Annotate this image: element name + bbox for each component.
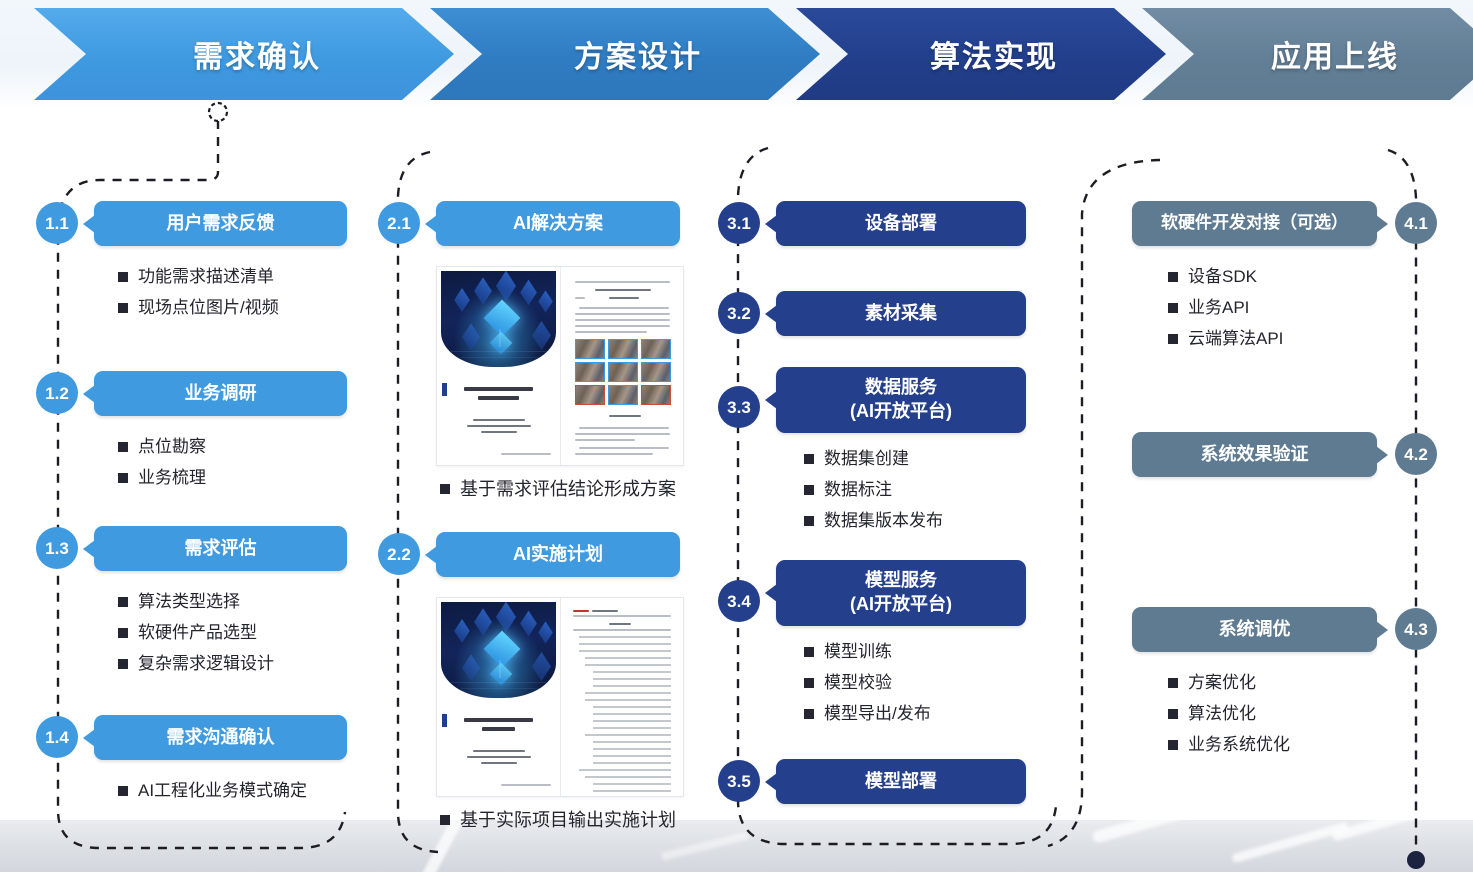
bullet-square-icon <box>118 473 128 483</box>
stage-chevron-1[interactable]: 需求确认 <box>34 8 454 100</box>
node-badge-2-1[interactable]: 2.1 <box>378 202 420 244</box>
bullet-square-icon <box>440 484 450 494</box>
bullet-item: 点位勘察 <box>118 436 206 458</box>
bullet-text: 设备SDK <box>1188 266 1257 288</box>
node-title-text: 系统效果验证 <box>1201 443 1309 467</box>
bullet-item: 数据集创建 <box>804 448 943 470</box>
bullet-square-icon <box>1168 678 1178 688</box>
bullet-square-icon <box>1168 303 1178 313</box>
bullet-item: AI工程化业务模式确定 <box>118 780 307 802</box>
node-badge-4-3[interactable]: 4.3 <box>1395 608 1437 650</box>
stage-label-3: 算法实现 <box>904 32 1058 76</box>
bullet-item: 算法优化 <box>1168 703 1290 725</box>
node-title-text: 模型部署 <box>865 770 937 794</box>
bullet-text: 算法优化 <box>1188 703 1256 725</box>
bullet-item: 设备SDK <box>1168 266 1283 288</box>
node-title-1-1[interactable]: 用户需求反馈 <box>94 201 347 246</box>
node-number: 1.4 <box>45 729 69 746</box>
node-badge-3-1[interactable]: 3.1 <box>718 202 760 244</box>
node-badge-2-2[interactable]: 2.2 <box>378 533 420 575</box>
node-title-2-2[interactable]: AI实施计划 <box>436 532 680 577</box>
bullet-text: 功能需求描述清单 <box>138 266 274 288</box>
node-bullets-1-2: 点位勘察 业务梳理 <box>118 436 206 498</box>
bullet-text: 点位勘察 <box>138 436 206 458</box>
node-title-text: 模型服务 (AI开放平台) <box>850 569 952 617</box>
bullet-square-icon <box>804 709 814 719</box>
doc-cover-title <box>449 718 547 736</box>
doc-content-page <box>561 267 684 465</box>
bullet-text: AI工程化业务模式确定 <box>138 780 307 802</box>
background-bottom-band <box>0 820 1473 872</box>
node-badge-1-4[interactable]: 1.4 <box>36 716 78 758</box>
bullet-text: 业务梳理 <box>138 467 206 489</box>
doc-cover-artwork <box>441 271 556 367</box>
stage-chevron-4[interactable]: 应用上线 <box>1142 8 1473 100</box>
node-bullets-3-3: 数据集创建 数据标注 数据集版本发布 <box>804 448 943 540</box>
bullet-text: 基于需求评估结论形成方案 <box>460 478 676 501</box>
bullet-square-icon <box>118 659 128 669</box>
node-bullets-1-4: AI工程化业务模式确定 <box>118 780 307 811</box>
node-title-3-1[interactable]: 设备部署 <box>776 201 1026 246</box>
bullet-square-icon <box>440 815 450 825</box>
stage-chevron-3[interactable]: 算法实现 <box>796 8 1166 100</box>
bullet-square-icon <box>1168 272 1178 282</box>
bullet-item: 功能需求描述清单 <box>118 266 279 288</box>
stage-label-4: 应用上线 <box>1245 32 1399 76</box>
node-number: 3.2 <box>727 305 751 322</box>
connector-col2 <box>398 152 438 852</box>
bullet-square-icon <box>118 442 128 452</box>
bullet-item: 模型导出/发布 <box>804 703 931 725</box>
bullet-item: 云端算法API <box>1168 328 1283 350</box>
bullet-square-icon <box>804 454 814 464</box>
bullet-square-icon <box>118 628 128 638</box>
bullet-text: 数据标注 <box>824 479 892 501</box>
node-bullets-4-1: 设备SDK 业务API 云端算法API <box>1168 266 1283 358</box>
bullet-item: 基于实际项目输出实施计划 <box>440 809 676 832</box>
node-bullets-1-3: 算法类型选择 软硬件产品选型 复杂需求逻辑设计 <box>118 591 274 683</box>
bullet-square-icon <box>804 485 814 495</box>
node-number: 1.2 <box>45 385 69 402</box>
bullet-square-icon <box>118 786 128 796</box>
connector-col4-right <box>1388 150 1416 852</box>
node-badge-1-2[interactable]: 1.2 <box>36 372 78 414</box>
node-bullets-2-1: 基于需求评估结论形成方案 <box>440 478 676 510</box>
background-streak <box>1331 820 1459 842</box>
node-badge-4-1[interactable]: 4.1 <box>1395 202 1437 244</box>
bullet-text: 复杂需求逻辑设计 <box>138 653 274 675</box>
node-badge-1-1[interactable]: 1.1 <box>36 202 78 244</box>
bullet-item: 业务系统优化 <box>1168 734 1290 756</box>
node-number: 3.3 <box>727 399 751 416</box>
node-title-text: 设备部署 <box>865 212 937 236</box>
bullet-item: 现场点位图片/视频 <box>118 297 279 319</box>
bullet-text: 数据集创建 <box>824 448 909 470</box>
bullet-text: 模型训练 <box>824 641 892 663</box>
bullet-item: 业务梳理 <box>118 467 206 489</box>
bullet-text: 现场点位图片/视频 <box>138 297 279 319</box>
node-badge-3-5[interactable]: 3.5 <box>718 760 760 802</box>
node-number: 2.2 <box>387 546 411 563</box>
doc-toc-page <box>561 598 684 796</box>
node-badge-3-4[interactable]: 3.4 <box>718 580 760 622</box>
node-title-text: AI实施计划 <box>513 543 603 567</box>
node-title-1-3[interactable]: 需求评估 <box>94 526 347 571</box>
node-badge-4-2[interactable]: 4.2 <box>1395 433 1437 475</box>
bullet-text: 算法类型选择 <box>138 591 240 613</box>
node-badge-1-3[interactable]: 1.3 <box>36 527 78 569</box>
bullet-item: 业务API <box>1168 297 1283 319</box>
bullet-square-icon <box>118 303 128 313</box>
bullet-square-icon <box>804 647 814 657</box>
node-title-4-3[interactable]: 系统调优 <box>1132 607 1377 652</box>
bullet-item: 模型校验 <box>804 672 931 694</box>
node-bullets-4-3: 方案优化 算法优化 业务系统优化 <box>1168 672 1290 764</box>
ai-solution-document-thumbnail[interactable] <box>436 266 684 466</box>
node-title-text: 系统调优 <box>1219 618 1291 642</box>
node-title-3-5[interactable]: 模型部署 <box>776 759 1026 804</box>
node-title-text: 需求评估 <box>185 537 257 561</box>
node-bullets-2-2: 基于实际项目输出实施计划 <box>440 809 676 841</box>
ai-implementation-plan-thumbnail[interactable] <box>436 597 684 797</box>
node-number: 1.3 <box>45 540 69 557</box>
bullet-item: 模型训练 <box>804 641 931 663</box>
node-number: 1.1 <box>45 215 69 232</box>
doc-cover-page <box>437 267 561 465</box>
doc-cover-title <box>449 387 547 405</box>
node-number: 3.5 <box>727 773 751 790</box>
node-bullets-3-4: 模型训练 模型校验 模型导出/发布 <box>804 641 931 733</box>
node-badge-3-3[interactable]: 3.3 <box>718 386 760 428</box>
bullet-item: 数据集版本发布 <box>804 510 943 532</box>
node-number: 2.1 <box>387 215 411 232</box>
bullet-item: 数据标注 <box>804 479 943 501</box>
bullet-item: 软硬件产品选型 <box>118 622 274 644</box>
node-title-text: AI解决方案 <box>513 212 603 236</box>
bullet-square-icon <box>804 678 814 688</box>
node-title-1-2[interactable]: 业务调研 <box>94 371 347 416</box>
node-title-2-1[interactable]: AI解决方案 <box>436 201 680 246</box>
bullet-text: 方案优化 <box>1188 672 1256 694</box>
node-title-text: 业务调研 <box>185 382 257 406</box>
bullet-item: 算法类型选择 <box>118 591 274 613</box>
node-title-4-1[interactable]: 软硬件开发对接（可选） <box>1132 201 1377 246</box>
node-number: 3.4 <box>727 593 751 610</box>
bullet-square-icon <box>1168 334 1178 344</box>
node-title-text: 数据服务 (AI开放平台) <box>850 376 952 424</box>
stage-label-1: 需求确认 <box>167 32 321 76</box>
bullet-text: 业务API <box>1188 297 1249 319</box>
bullet-text: 云端算法API <box>1188 328 1283 350</box>
bullet-text: 基于实际项目输出实施计划 <box>460 809 676 832</box>
stage-label-2: 方案设计 <box>548 32 702 76</box>
node-title-4-2[interactable]: 系统效果验证 <box>1132 432 1377 477</box>
node-number: 4.3 <box>1404 621 1428 638</box>
node-number: 4.1 <box>1404 215 1428 232</box>
stage-chevron-2[interactable]: 方案设计 <box>430 8 820 100</box>
doc-cover-artwork <box>441 602 556 698</box>
background-streak <box>1091 820 1248 844</box>
node-title-text: 用户需求反馈 <box>167 212 275 236</box>
node-number: 4.2 <box>1404 446 1428 463</box>
node-title-text: 软硬件开发对接（可选） <box>1161 212 1348 234</box>
connector-col4-left <box>1048 160 1160 846</box>
stage-banner: 需求确认 方案设计 算法实现 应用上线 <box>0 8 1473 100</box>
doc-accent-tab <box>442 383 447 396</box>
bullet-square-icon <box>1168 709 1178 719</box>
node-title-3-3[interactable]: 数据服务 (AI开放平台) <box>776 367 1026 433</box>
node-title-text: 素材采集 <box>865 302 937 326</box>
bullet-square-icon <box>804 516 814 526</box>
bullet-text: 模型校验 <box>824 672 892 694</box>
doc-cover-page <box>437 598 561 796</box>
bullet-square-icon <box>118 272 128 282</box>
background-streak <box>1231 822 1349 864</box>
bullet-text: 业务系统优化 <box>1188 734 1290 756</box>
doc-accent-tab <box>442 714 447 727</box>
bullet-item: 基于需求评估结论形成方案 <box>440 478 676 501</box>
node-title-3-4[interactable]: 模型服务 (AI开放平台) <box>776 560 1026 626</box>
bullet-item: 方案优化 <box>1168 672 1290 694</box>
node-title-text: 需求沟通确认 <box>167 726 275 750</box>
node-bullets-1-1: 功能需求描述清单 现场点位图片/视频 <box>118 266 279 328</box>
node-title-1-4[interactable]: 需求沟通确认 <box>94 715 347 760</box>
node-badge-3-2[interactable]: 3.2 <box>718 292 760 334</box>
bullet-text: 软硬件产品选型 <box>138 622 257 644</box>
bullet-item: 复杂需求逻辑设计 <box>118 653 274 675</box>
bullet-text: 数据集版本发布 <box>824 510 943 532</box>
node-number: 3.1 <box>727 215 751 232</box>
bullet-square-icon <box>118 597 128 607</box>
bullet-text: 模型导出/发布 <box>824 703 931 725</box>
bullet-square-icon <box>1168 740 1178 750</box>
node-title-3-2[interactable]: 素材采集 <box>776 291 1026 336</box>
